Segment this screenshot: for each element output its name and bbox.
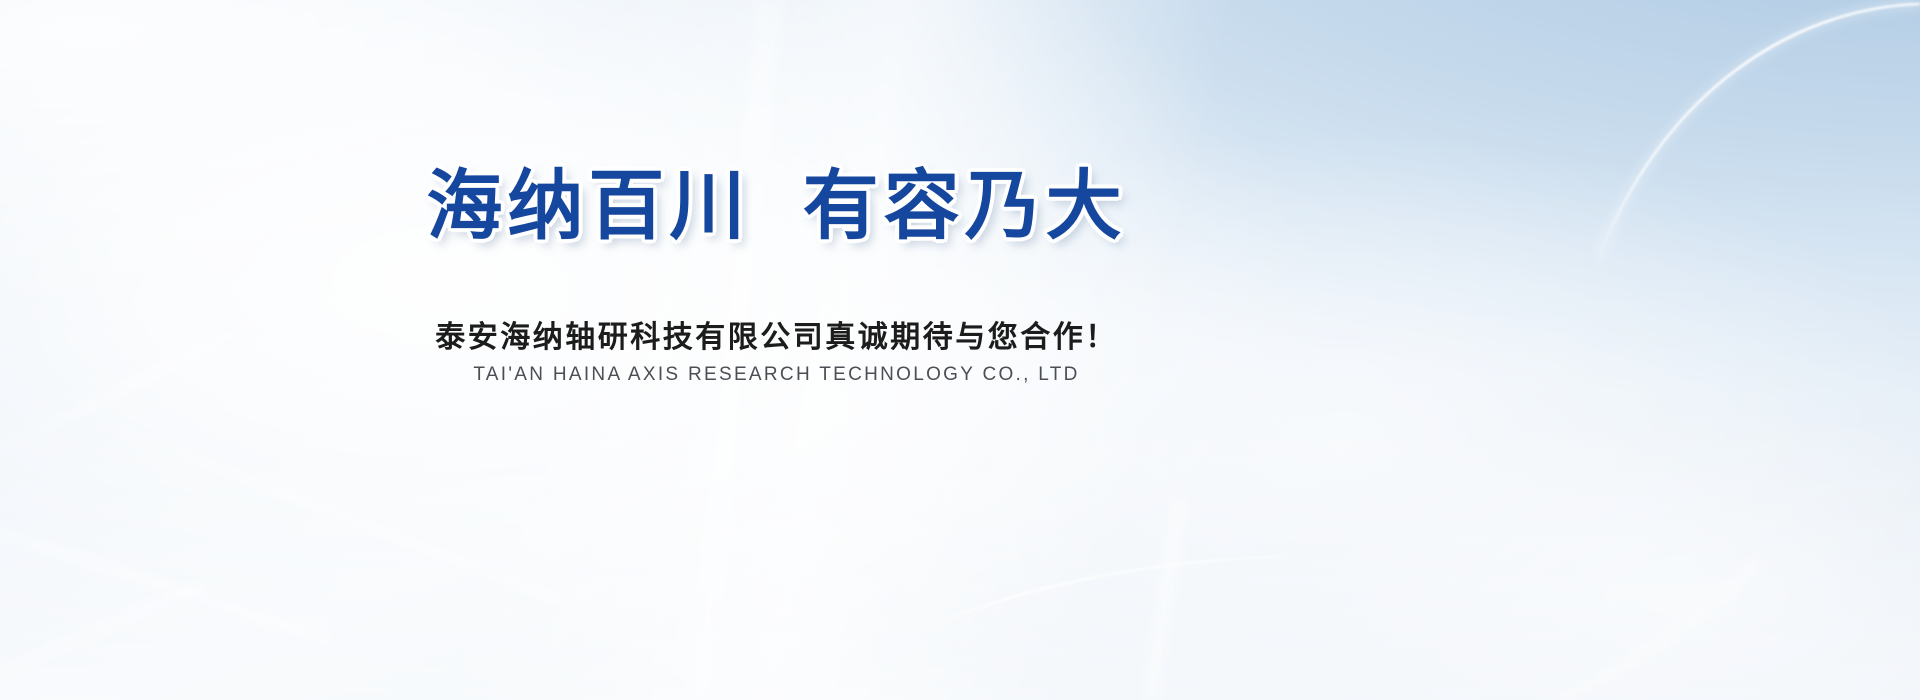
subtitle-english: TAI'AN HAINA AXIS RESEARCH TECHNOLOGY CO…	[0, 364, 1553, 386]
page-title: 海纳百川 有容乃大	[0, 162, 1553, 252]
subtitle-chinese: 泰安海纳轴研科技有限公司真诚期待与您合作！	[0, 312, 1553, 356]
hero-banner: 海纳百川 有容乃大 泰安海纳轴研科技有限公司真诚期待与您合作！ TAI'AN H…	[0, 0, 1920, 700]
banner-content: 海纳百川 有容乃大 泰安海纳轴研科技有限公司真诚期待与您合作！ TAI'AN H…	[0, 0, 1920, 700]
